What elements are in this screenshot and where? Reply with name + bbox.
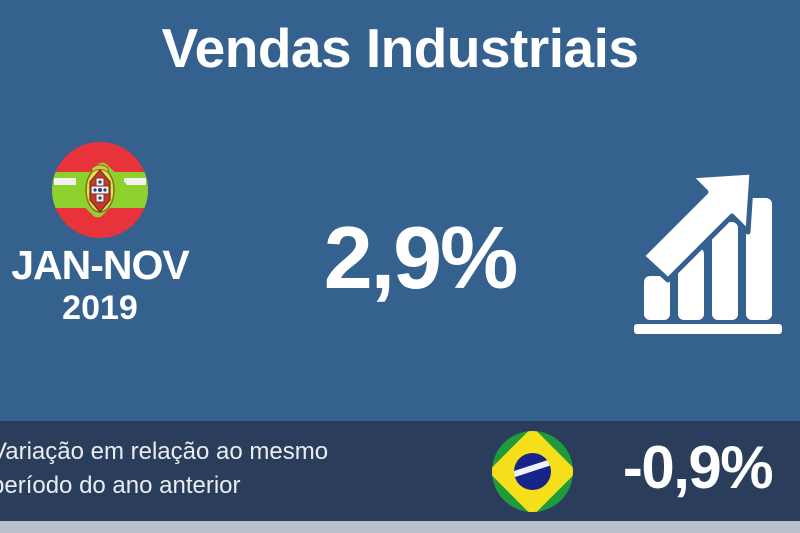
emblem-coat-of-arms — [84, 162, 116, 218]
period-year: 2019 — [0, 287, 216, 330]
page-title: Vendas Industriais — [0, 20, 800, 78]
infographic-card: Vendas Industriais — [0, 0, 800, 533]
brazil-flag-circle-icon — [492, 431, 573, 512]
footer-bar: Variação em relação ao mesmo período do … — [0, 421, 800, 521]
flag-blue-globe — [514, 453, 551, 490]
portugal-flag-circle-icon — [52, 142, 148, 238]
emblem-white-stripe-right — [124, 178, 146, 185]
main-row: JAN-NOV 2019 2,9% — [0, 120, 800, 410]
flag-globe-band — [514, 457, 551, 478]
period-block: JAN-NOV 2019 — [0, 142, 216, 330]
growth-bar-chart-arrow-icon — [628, 160, 788, 340]
footer-caption: Variação em relação ao mesmo período do … — [0, 435, 461, 503]
period-label: JAN-NOV — [0, 244, 216, 287]
bottom-strip — [0, 521, 800, 533]
emblem-white-stripe-left — [54, 178, 76, 185]
footer-caption-line-2: período do ano anterior — [0, 469, 461, 503]
footer-caption-line-1: Variação em relação ao mesmo — [0, 435, 461, 469]
headline-value: 2,9% — [240, 214, 600, 302]
footer-value: -0,9% — [590, 429, 800, 507]
